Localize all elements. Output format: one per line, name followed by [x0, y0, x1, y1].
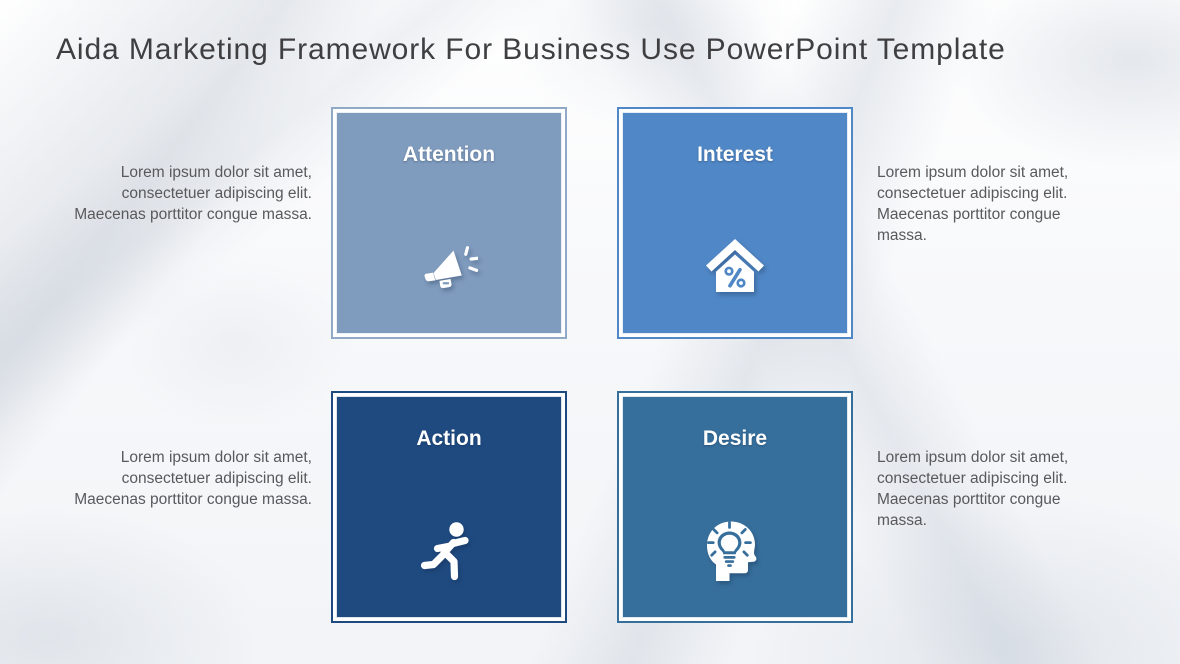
- description-bottom-left: Lorem ipsum dolor sit amet, consectetuer…: [62, 447, 312, 510]
- megaphone-icon: [337, 231, 561, 303]
- card-action-label: Action: [337, 427, 561, 451]
- card-interest-body: Interest: [622, 112, 848, 334]
- card-attention-label: Attention: [337, 143, 561, 167]
- description-top-right: Lorem ipsum dolor sit amet, consectetuer…: [877, 162, 1099, 246]
- house-percent-icon: [623, 231, 847, 303]
- slide-canvas: Aida Marketing Framework For Business Us…: [0, 0, 1180, 664]
- running-person-icon: [337, 515, 561, 587]
- card-action[interactable]: Action: [331, 391, 567, 623]
- page-title: Aida Marketing Framework For Business Us…: [56, 33, 1006, 67]
- card-action-body: Action: [336, 396, 562, 618]
- card-desire-body: Desire: [622, 396, 848, 618]
- card-attention[interactable]: Attention: [331, 107, 567, 339]
- card-attention-body: Attention: [336, 112, 562, 334]
- card-interest-label: Interest: [623, 143, 847, 167]
- head-lightbulb-icon: [623, 515, 847, 587]
- description-top-left: Lorem ipsum dolor sit amet, consectetuer…: [62, 162, 312, 225]
- description-bottom-right: Lorem ipsum dolor sit amet, consectetuer…: [877, 447, 1099, 531]
- card-desire[interactable]: Desire: [617, 391, 853, 623]
- card-desire-label: Desire: [623, 427, 847, 451]
- background-texture: [0, 0, 1180, 664]
- card-interest[interactable]: Interest: [617, 107, 853, 339]
